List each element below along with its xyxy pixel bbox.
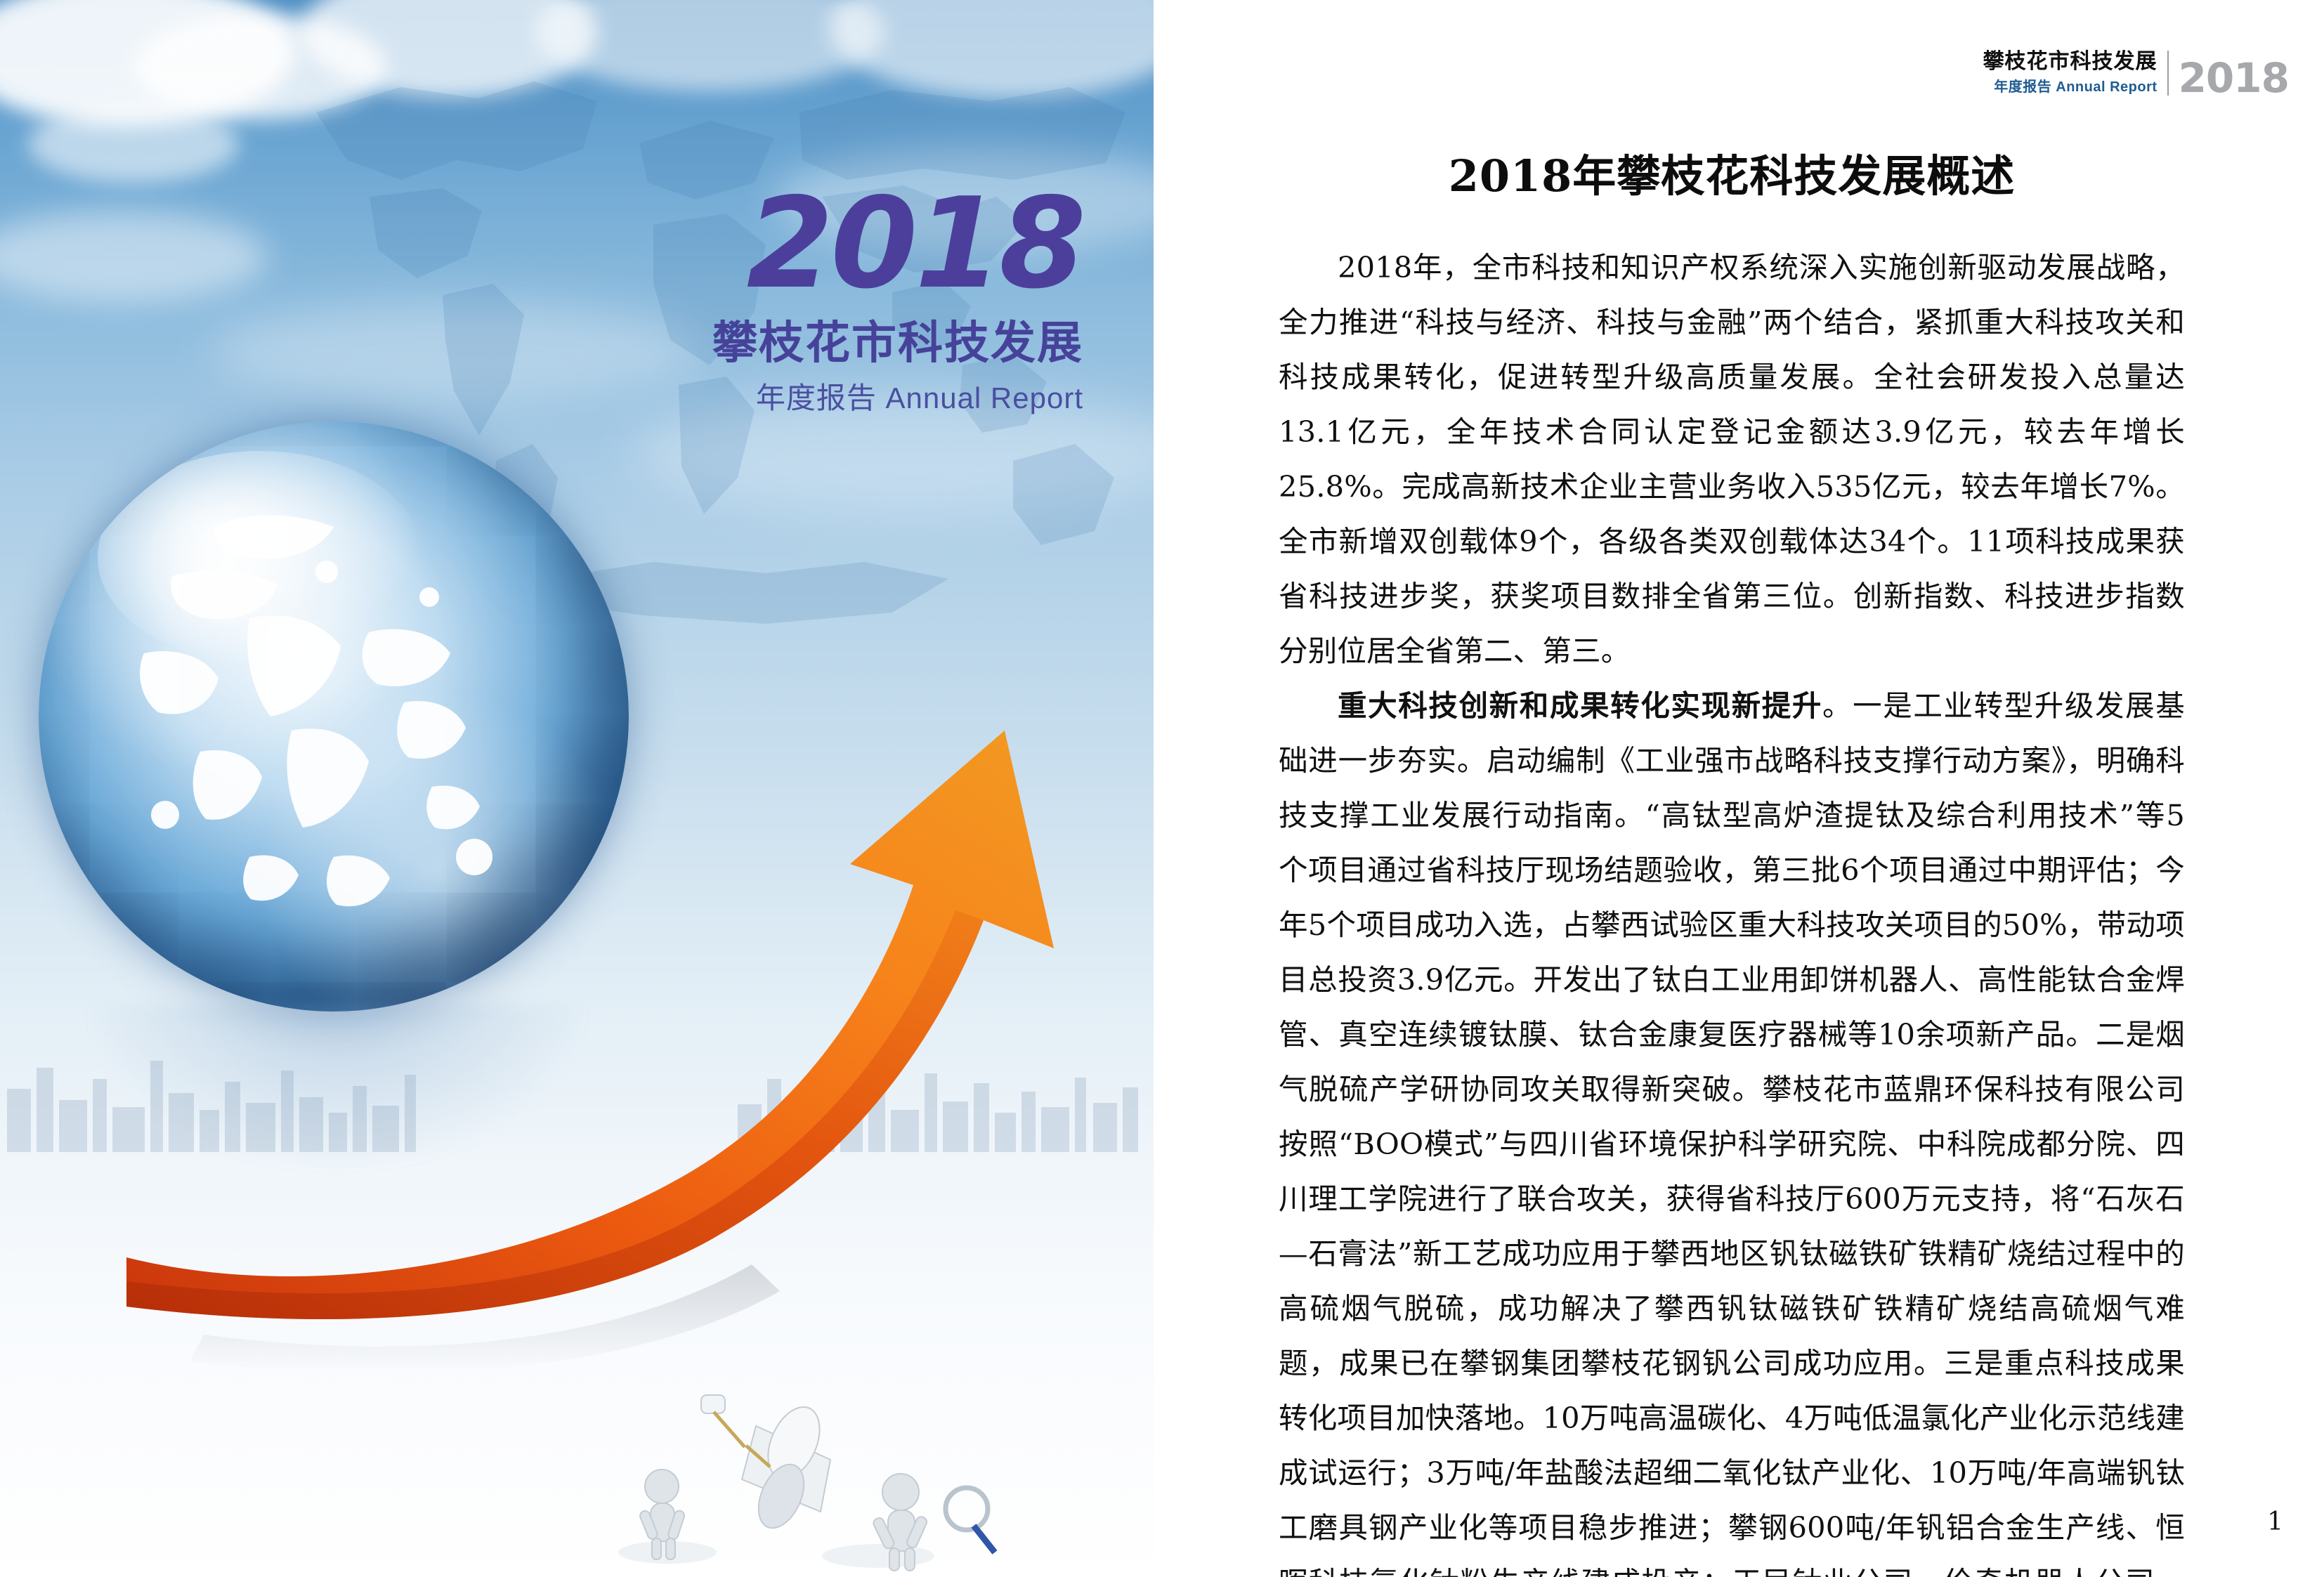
- book-spread: 2018 攀枝花市科技发展 年度报告 Annual Report 攀枝花市科技发…: [0, 0, 2324, 1577]
- page-number: 1: [2267, 1507, 2283, 1536]
- paragraph-2: 重大科技创新和成果转化实现新提升。一是工业转型升级发展基础进一步夯实。启动编制《…: [1279, 679, 2185, 1577]
- header-title-en: 年度报告 Annual Report: [1983, 75, 2157, 96]
- cover-year: 2018: [712, 186, 1083, 301]
- article-body: 2018年攀枝花科技发展概述 2018年，全市科技和知识产权系统深入实施创新驱动…: [1279, 140, 2185, 1577]
- paragraph-2-body: 。一是工业转型升级发展基础进一步夯实。启动编制《工业强市战略科技支撑行动方案》，…: [1279, 688, 2185, 1577]
- cloud-icon: [28, 105, 239, 183]
- page-header: 攀枝花市科技发展 年度报告 Annual Report 2018: [1983, 51, 2289, 96]
- header-title-block: 攀枝花市科技发展 年度报告 Annual Report: [1983, 51, 2169, 96]
- cover-page: 2018 攀枝花市科技发展 年度报告 Annual Report: [0, 0, 1154, 1577]
- cloud-icon: [0, 211, 267, 302]
- upward-arrow-icon: [84, 555, 1152, 1370]
- cover-title-block: 2018 攀枝花市科技发展 年度报告 Annual Report: [712, 186, 1083, 417]
- header-year: 2018: [2179, 62, 2289, 96]
- cover-title-cn: 攀枝花市科技发展: [712, 307, 1083, 372]
- cover-subtitle: 年度报告 Annual Report: [712, 374, 1083, 417]
- article-page: 攀枝花市科技发展 年度报告 Annual Report 2018 2018年攀枝…: [1154, 0, 2324, 1577]
- header-title-cn: 攀枝花市科技发展: [1983, 51, 2157, 73]
- mascot-figures-icon: [583, 1342, 1075, 1573]
- page-title: 2018年攀枝花科技发展概述: [1279, 140, 2185, 204]
- paragraph-1: 2018年，全市科技和知识产权系统深入实施创新驱动发展战略，全力推进“科技与经济…: [1279, 240, 2185, 679]
- paragraph-2-lead: 重大科技创新和成果转化实现新提升: [1338, 688, 1822, 723]
